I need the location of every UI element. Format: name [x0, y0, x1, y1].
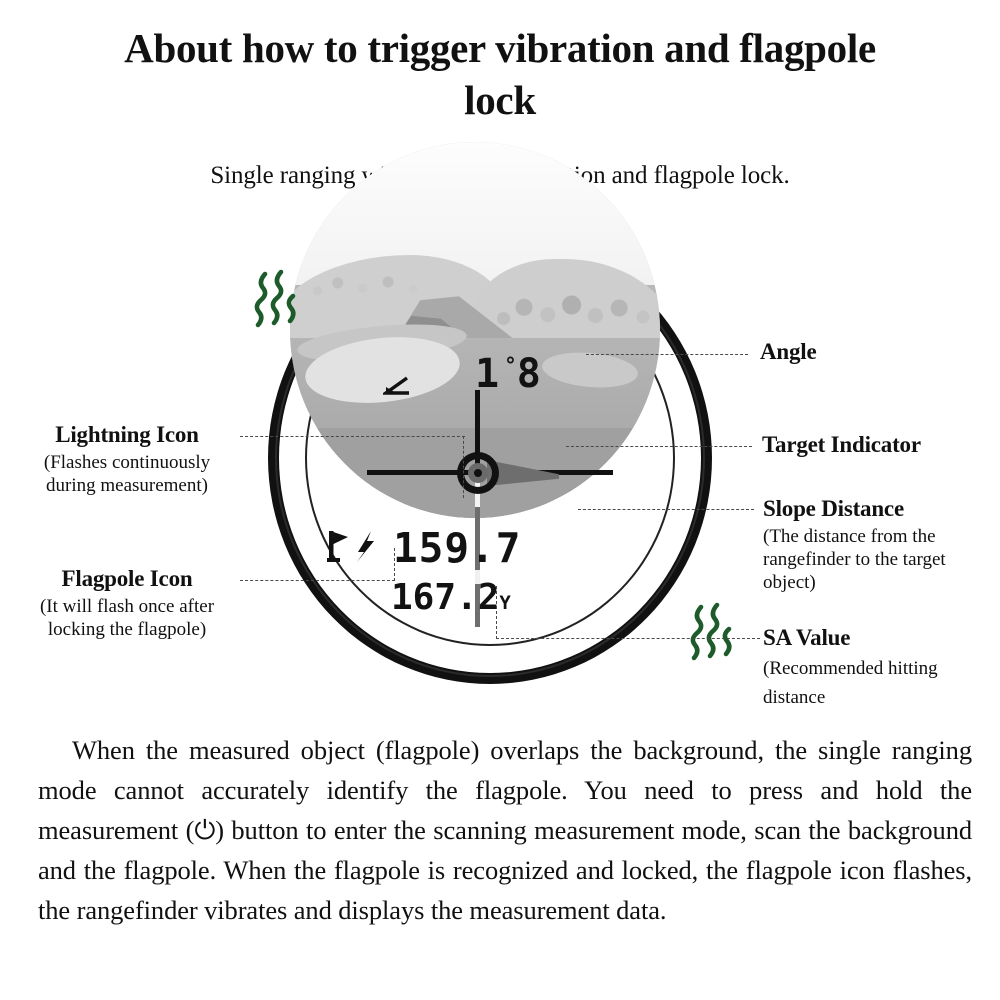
callout-slope-distance-note: (The distance from the rangefinder to th…: [763, 525, 995, 595]
rangefinder-scope: 1°8: [268, 232, 712, 684]
page-root: About how to trigger vibration and flagp…: [0, 0, 1000, 1000]
callout-flagpole-note: (It will flash once after locking the fl…: [18, 595, 236, 641]
callout-flagpole-icon: Flagpole Icon (It will flash once after …: [18, 566, 236, 641]
vibration-waves-icon-right: [686, 600, 746, 667]
angle-icon: [383, 374, 411, 396]
callout-sa-value-title: SA Value: [763, 625, 995, 651]
callout-flagpole-note-line1: (It will flash once after: [18, 595, 236, 618]
callout-flagpole-note-line2: locking the flagpole): [18, 618, 236, 641]
callout-lightning-title: Lightning Icon: [18, 422, 236, 448]
leader-lightning-horizontal: [240, 436, 465, 437]
leader-lightning-vertical: [463, 436, 464, 498]
slope-distance-value: 159.7: [393, 528, 521, 569]
angle-readout: 1°8: [475, 354, 546, 394]
callout-slope-distance-note-line3: object): [763, 571, 995, 594]
callout-target-indicator-title: Target Indicator: [762, 432, 1000, 458]
leader-angle: [586, 354, 748, 355]
leader-sa-value-vertical: [496, 586, 497, 639]
callout-sa-value-note-line1: (Recommended hitting: [763, 654, 995, 683]
callout-sa-value-note-line2: distance: [763, 683, 995, 712]
callout-sa-value-note: (Recommended hitting distance: [763, 654, 995, 713]
callout-slope-distance-note-line2: rangefinder to the target: [763, 548, 995, 571]
reticle-dot: [474, 469, 482, 477]
callout-slope-distance: Slope Distance (The distance from the ra…: [763, 496, 995, 595]
scope-hud: 1°8: [305, 270, 675, 646]
leader-flagpole-horizontal: [240, 580, 395, 581]
slope-distance-row: 159.7: [327, 528, 577, 569]
callout-lightning-note-line1: (Flashes continuously: [18, 451, 236, 474]
callout-target-indicator: Target Indicator: [762, 432, 1000, 458]
callout-angle: Angle: [760, 339, 990, 365]
callout-sa-value: SA Value (Recommended hitting distance: [763, 625, 995, 713]
angle-value2: 8: [517, 351, 546, 397]
sa-value: 167.2: [391, 577, 499, 618]
degree-symbol: °: [504, 354, 517, 378]
leader-flagpole-vertical: [394, 548, 395, 581]
callout-lightning-note-line2: during measurement): [18, 474, 236, 497]
callout-lightning-note: (Flashes continuously during measurement…: [18, 451, 236, 497]
callout-flagpole-title: Flagpole Icon: [18, 566, 236, 592]
sa-value-row: 167.2Y: [391, 580, 511, 616]
leader-target-indicator: [566, 446, 752, 447]
callout-slope-distance-note-line1: (The distance from the: [763, 525, 995, 548]
lightning-icon: [355, 529, 377, 568]
callout-angle-title: Angle: [760, 339, 990, 365]
page-title: About how to trigger vibration and flagp…: [0, 22, 1000, 127]
body-paragraph: When the measured object (flagpole) over…: [38, 730, 972, 930]
sa-unit: Y: [499, 592, 510, 614]
leader-slope-distance: [578, 509, 754, 510]
hud-status-icons: [327, 529, 377, 568]
callout-slope-distance-title: Slope Distance: [763, 496, 995, 522]
leader-sa-value-horizontal: [496, 638, 760, 639]
flagpole-icon: [327, 529, 353, 568]
vibration-waves-icon-left: [248, 268, 308, 335]
callout-lightning-icon: Lightning Icon (Flashes continuously dur…: [18, 422, 236, 497]
